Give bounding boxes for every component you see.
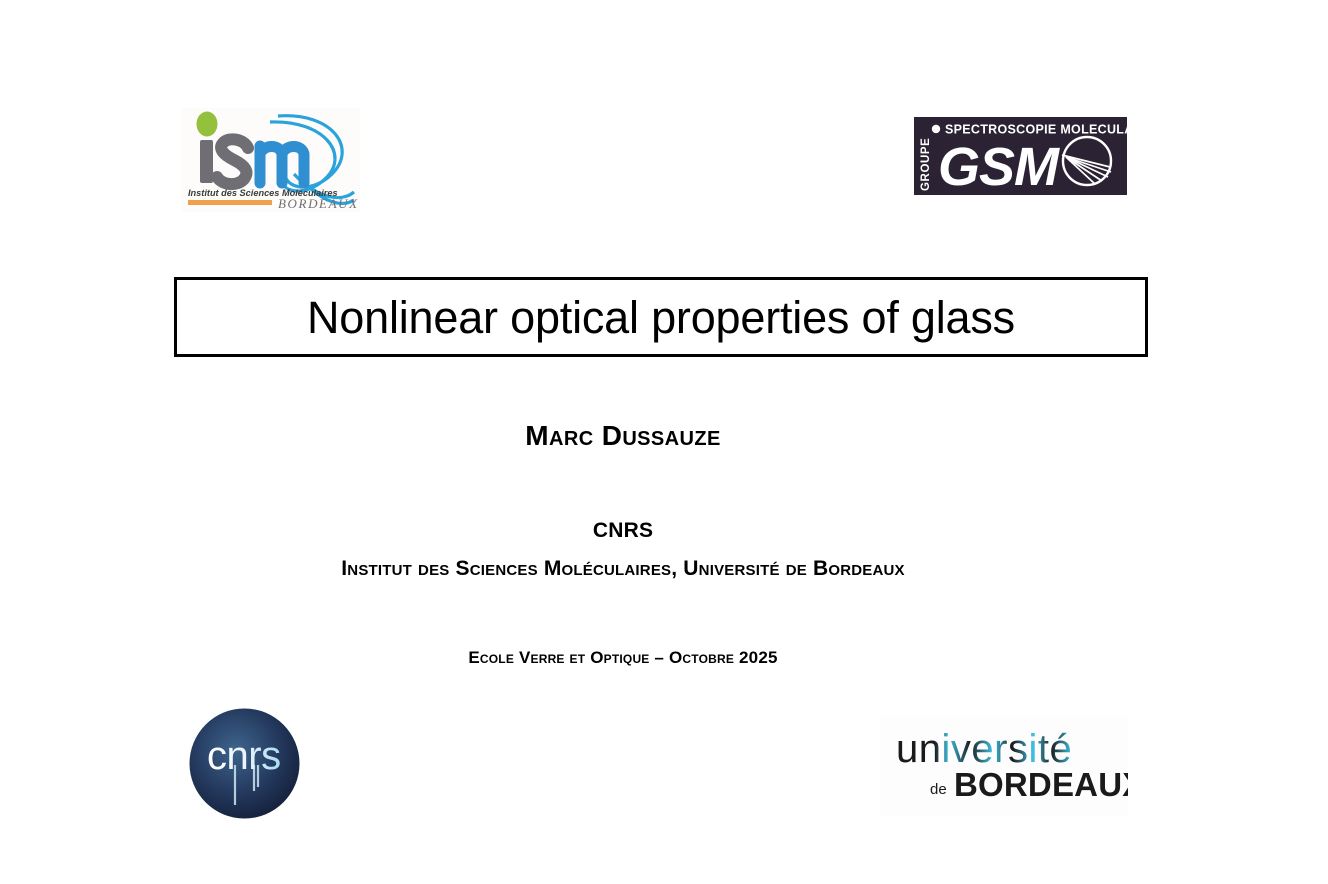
affiliation-organization: CNRS xyxy=(0,518,1246,544)
slide-canvas: Institut des Sciences Moléculaires BORDE… xyxy=(0,0,1328,884)
title-box: Nonlinear optical properties of glass xyxy=(174,277,1148,357)
event-block: Ecole Verre et Optique – Octobre 2025 xyxy=(0,648,1246,668)
author-block: Marc Dussauze xyxy=(0,420,1246,452)
svg-text:université: université xyxy=(896,727,1072,771)
author-name: Marc Dussauze xyxy=(0,420,1246,452)
svg-text:cnrs: cnrs xyxy=(207,734,281,778)
page-title: Nonlinear optical properties of glass xyxy=(307,295,1015,340)
event-name: Ecole Verre et Optique – Octobre 2025 xyxy=(0,648,1246,668)
svg-text:SPECTROSCOPIE MOLECULAIRE: SPECTROSCOPIE MOLECULAIRE xyxy=(945,123,1127,137)
svg-text:BORDEAUX: BORDEAUX xyxy=(954,766,1128,803)
gsm-logo: SPECTROSCOPIE MOLECULAIRE GROUPE GSM xyxy=(914,117,1127,195)
svg-text:BORDEAUX: BORDEAUX xyxy=(278,196,359,211)
universite-de-bordeaux-logo: université de BORDEAUX xyxy=(880,716,1128,816)
cnrs-logo: cnrs xyxy=(188,707,301,820)
ism-logo: Institut des Sciences Moléculaires BORDE… xyxy=(182,108,360,212)
svg-text:GSM: GSM xyxy=(938,137,1060,195)
affiliation-laboratory: Institut des Sciences Moléculaires, Univ… xyxy=(0,556,1246,582)
svg-text:de: de xyxy=(930,781,947,798)
affiliation-block: CNRS Institut des Sciences Moléculaires,… xyxy=(0,518,1246,583)
svg-text:GROUPE: GROUPE xyxy=(920,138,932,191)
